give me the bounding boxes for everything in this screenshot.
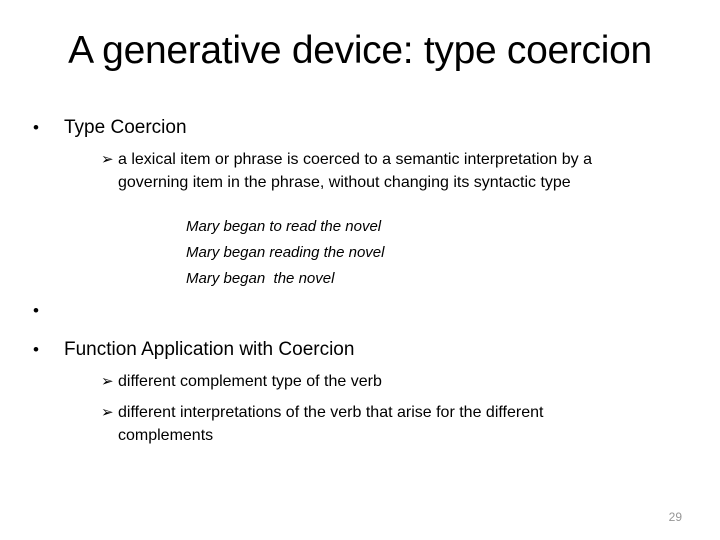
bullet-item-function-application: • Function Application with Coercion xyxy=(0,338,720,362)
bullet-item-empty: • xyxy=(0,302,720,324)
sub-bullet-line-2: complements xyxy=(118,424,668,447)
sub-bullet-line-2: governing item in the phrase, without ch… xyxy=(118,171,668,194)
page-title: A generative device: type coercion xyxy=(40,28,680,74)
example-sentence: Mary began reading the novel xyxy=(186,240,720,266)
slide-body: • Type Coercion ➢ a lexical item or phra… xyxy=(0,116,720,447)
bullet-dot-icon: • xyxy=(33,116,39,140)
spacer xyxy=(0,324,720,338)
example-sentence: Mary began the novel xyxy=(186,266,720,292)
bullet-item-type-coercion: • Type Coercion xyxy=(0,116,720,140)
sub-bullet-line-1: a lexical item or phrase is coerced to a… xyxy=(118,148,668,171)
example-sentence: Mary began to read the novel xyxy=(186,214,720,240)
bullet-label: Type Coercion xyxy=(64,116,187,140)
spacer xyxy=(0,292,720,302)
arrow-bullet-icon: ➢ xyxy=(101,401,114,424)
spacer xyxy=(0,140,720,148)
slide-canvas: A generative device: type coercion • Typ… xyxy=(0,0,720,540)
sub-bullet-item-complement-type: ➢ different complement type of the verb xyxy=(0,370,720,393)
spacer xyxy=(0,194,720,214)
bullet-dot-icon: • xyxy=(33,338,39,362)
bullet-dot-icon: • xyxy=(33,302,39,320)
example-sentences-group: Mary began to read the novel Mary began … xyxy=(0,214,720,292)
slide-page-number: 29 xyxy=(669,510,682,524)
bullet-label: Function Application with Coercion xyxy=(64,338,354,362)
arrow-bullet-icon: ➢ xyxy=(101,370,114,393)
sub-bullet-item-lexical-coercion: ➢ a lexical item or phrase is coerced to… xyxy=(0,148,720,194)
arrow-bullet-icon: ➢ xyxy=(101,148,114,171)
spacer xyxy=(0,393,720,401)
sub-bullet-line-1: different complement type of the verb xyxy=(118,370,668,393)
sub-bullet-item-interpretations: ➢ different interpretations of the verb … xyxy=(0,401,720,447)
sub-bullet-line-1: different interpretations of the verb th… xyxy=(118,401,668,424)
spacer xyxy=(0,362,720,370)
